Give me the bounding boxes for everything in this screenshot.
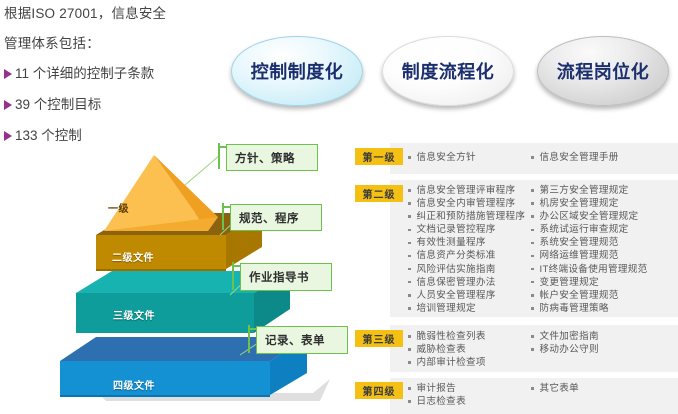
triangle-bullet-icon — [4, 100, 12, 110]
callout-record-form: 记录、表单 — [256, 326, 348, 354]
list-item: 系统安全管理规范 — [531, 236, 648, 249]
square-bullet-icon — [531, 215, 534, 218]
list-item: 办公区域安全管理规定 — [531, 210, 648, 223]
badge-level-2: 第二级 — [355, 185, 403, 202]
slide-canvas: 根据ISO 27001，信息安全 管理体系包括： 11 个详细的控制子条款 39… — [0, 0, 678, 414]
intro-bullet-2: 39 个控制目标 — [4, 97, 229, 112]
square-bullet-icon — [531, 189, 534, 192]
list-item: 变更管理规定 — [531, 276, 648, 289]
square-bullet-icon — [408, 242, 411, 245]
intro-bullet-3-label: 133 个控制 — [15, 128, 82, 143]
oval-process-position: 流程岗位化 — [537, 36, 669, 106]
square-bullet-icon — [531, 387, 534, 390]
square-bullet-icon — [531, 294, 534, 297]
list-item: 其它表单 — [531, 382, 579, 395]
square-bullet-icon — [408, 294, 411, 297]
level-1-col-2: 信息安全管理手册 — [531, 151, 619, 164]
intro-bullet-1: 11 个详细的控制子条款 — [4, 66, 229, 81]
list-item: 防病毒管理策略 — [531, 302, 648, 315]
level-2-lists: 信息安全管理评审程序 信息安全内审管理程序 纠正和预防措施管理程序 文档记录管控… — [408, 184, 678, 315]
callout-1-tick — [218, 146, 226, 148]
square-bullet-icon — [408, 156, 411, 159]
list-item: 网络运维管理规范 — [531, 249, 648, 262]
callout-standard-procedure: 规范、程序 — [230, 204, 322, 231]
list-item: 移动办公守则 — [531, 343, 599, 356]
square-bullet-icon — [408, 268, 411, 271]
square-bullet-icon — [531, 348, 534, 351]
list-item: 脆弱性检查列表 — [408, 330, 531, 343]
square-bullet-icon — [531, 255, 534, 258]
list-item: 信息保密管理办法 — [408, 276, 531, 289]
badge-level-4: 第四级 — [355, 382, 403, 399]
square-bullet-icon — [408, 400, 411, 403]
intro-text-block: 根据ISO 27001，信息安全 管理体系包括： 11 个详细的控制子条款 39… — [4, 6, 229, 159]
intro-bullet-3: 133 个控制 — [4, 128, 229, 143]
intro-line-1: 根据ISO 27001，信息安全 — [4, 6, 229, 21]
list-item: 信息资产分类标准 — [408, 249, 531, 262]
list-item: 机房安全管理规定 — [531, 197, 648, 210]
list-item: 培训管理规定 — [408, 302, 531, 315]
list-item: 内部审计检查项 — [408, 356, 531, 369]
level-2-col-2: 第三方安全管理规定 机房安全管理规定 办公区域安全管理规定 系统试运行审查规定 … — [531, 184, 648, 315]
list-item: 信息安全方针 — [408, 151, 531, 164]
triangle-bullet-icon — [4, 131, 12, 141]
callout-2-tick — [222, 206, 230, 208]
square-bullet-icon — [531, 242, 534, 245]
level-4-lists: 审计报告 日志检查表 其它表单 — [408, 382, 678, 408]
list-item: IT终端设备使用管理规范 — [531, 263, 648, 276]
level-3-col-1: 脆弱性检查列表 威胁检查表 内部审计检查项 — [408, 330, 531, 369]
oval-control-institutionalization: 控制制度化 — [231, 36, 363, 106]
level-4-col-1: 审计报告 日志检查表 — [408, 382, 531, 408]
intro-bullet-2-label: 39 个控制目标 — [15, 97, 101, 112]
level-1-lists: 信息安全方针 信息安全管理手册 — [408, 151, 678, 164]
triangle-bullet-icon — [4, 69, 12, 79]
list-item: 日志检查表 — [408, 395, 531, 408]
list-item: 文档记录管控程序 — [408, 223, 531, 236]
level-3-lists: 脆弱性检查列表 威胁检查表 内部审计检查项 文件加密指南 移动办公守则 — [408, 330, 678, 369]
level-2-col-1: 信息安全管理评审程序 信息安全内审管理程序 纠正和预防措施管理程序 文档记录管控… — [408, 184, 531, 315]
square-bullet-icon — [531, 307, 534, 310]
callout-3-tick — [232, 265, 240, 267]
square-bullet-icon — [408, 189, 411, 192]
list-item: 风险评估实施指南 — [408, 263, 531, 276]
pyramid-tier-1-label: 一级 — [108, 200, 129, 215]
list-item: 信息安全管理手册 — [531, 151, 619, 164]
square-bullet-icon — [408, 229, 411, 232]
list-item: 有效性测量程序 — [408, 236, 531, 249]
square-bullet-icon — [531, 202, 534, 205]
square-bullet-icon — [531, 229, 534, 232]
square-bullet-icon — [531, 335, 534, 338]
square-bullet-icon — [408, 281, 411, 284]
level-3-col-2: 文件加密指南 移动办公守则 — [531, 330, 599, 369]
list-item: 纠正和预防措施管理程序 — [408, 210, 531, 223]
oval-institution-process: 制度流程化 — [382, 36, 514, 106]
square-bullet-icon — [408, 255, 411, 258]
badge-level-3: 第三级 — [355, 330, 403, 347]
square-bullet-icon — [408, 361, 411, 364]
intro-bullet-1-label: 11 个详细的控制子条款 — [15, 66, 154, 81]
square-bullet-icon — [531, 156, 534, 159]
level-4-col-2: 其它表单 — [531, 382, 579, 408]
intro-line-2: 管理体系包括： — [4, 36, 229, 51]
list-item: 人员安全管理程序 — [408, 289, 531, 302]
pyramid-tier-4-label: 四级文件 — [113, 377, 155, 392]
square-bullet-icon — [408, 202, 411, 205]
list-item: 信息安全内审管理程序 — [408, 197, 531, 210]
list-item: 第三方安全管理规定 — [531, 184, 648, 197]
list-item: 系统试运行审查规定 — [531, 223, 648, 236]
list-item: 威胁检查表 — [408, 343, 531, 356]
callout-work-instruction: 作业指导书 — [240, 263, 332, 291]
list-item: 信息安全管理评审程序 — [408, 184, 531, 197]
square-bullet-icon — [408, 307, 411, 310]
list-item: 审计报告 — [408, 382, 531, 395]
square-bullet-icon — [408, 335, 411, 338]
callout-policy-strategy: 方针、策略 — [226, 144, 318, 171]
badge-level-1: 第一级 — [355, 148, 403, 165]
square-bullet-icon — [531, 268, 534, 271]
callout-4-tick — [248, 328, 256, 330]
list-item: 文件加密指南 — [531, 330, 599, 343]
square-bullet-icon — [408, 215, 411, 218]
list-item: 帐户安全管理规范 — [531, 289, 648, 302]
square-bullet-icon — [408, 387, 411, 390]
square-bullet-icon — [531, 281, 534, 284]
level-1-col-1: 信息安全方针 — [408, 151, 531, 164]
square-bullet-icon — [408, 348, 411, 351]
